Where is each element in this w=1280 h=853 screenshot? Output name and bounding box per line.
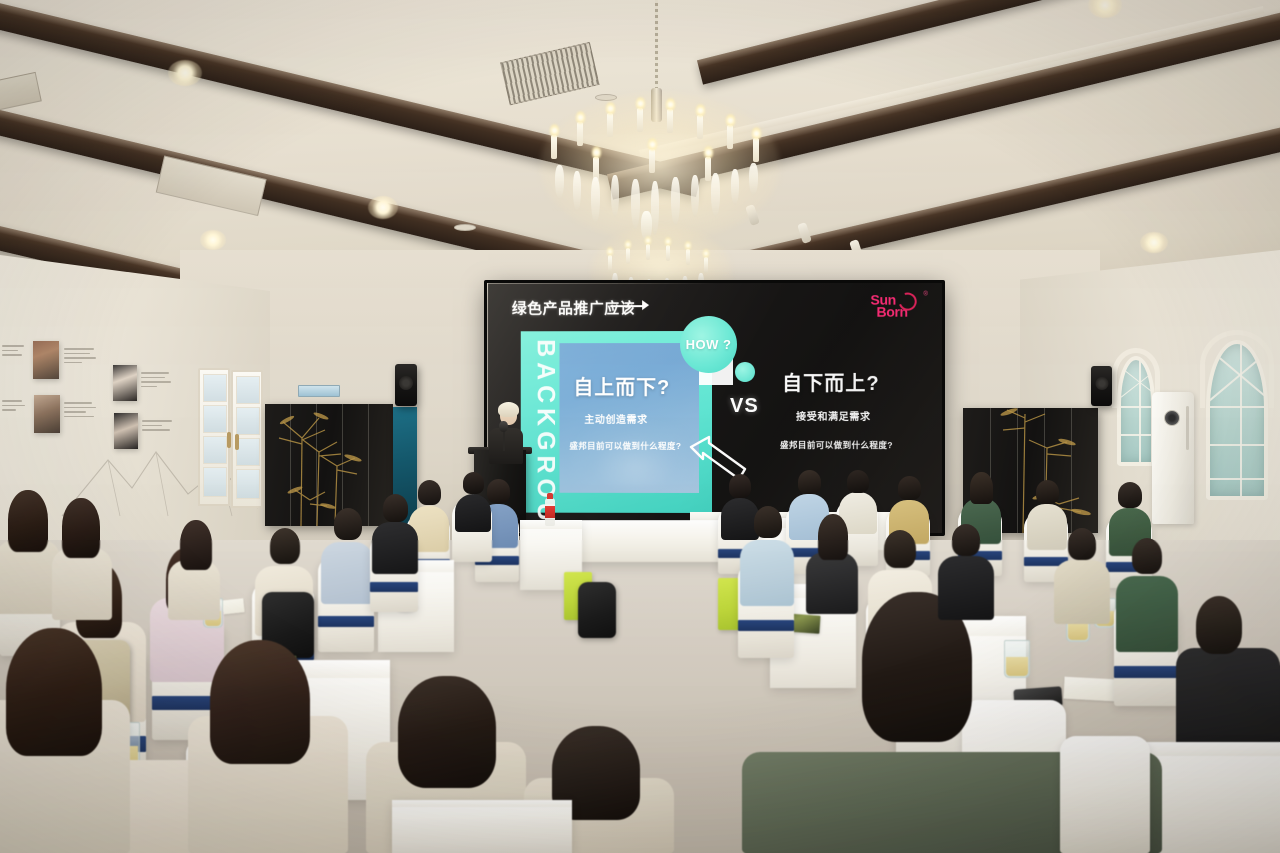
slide-left-subheading: 主动创造需求 xyxy=(584,411,647,426)
slide-title-rule xyxy=(610,305,644,307)
downlight xyxy=(168,60,202,86)
slide-title: 绿色产品推广应该 xyxy=(512,297,635,318)
downlight xyxy=(200,230,226,250)
slide-right-heading: 自下而上? xyxy=(782,367,880,396)
ceiling-vent xyxy=(0,72,42,114)
sunborn-logo: Sun Born ® xyxy=(870,292,928,320)
ceiling-louver-vent xyxy=(500,42,600,106)
water-bottle xyxy=(545,498,555,526)
downlight xyxy=(1140,232,1168,253)
conference-room-photo: 绿色产品推广应该 Sun Born ® BACKGROUND 自上而下? 主动创… xyxy=(0,0,1280,853)
downlight xyxy=(368,196,398,219)
slide-title-arrow-icon xyxy=(642,300,649,310)
portrait-caption xyxy=(64,402,98,420)
wall-sign xyxy=(298,385,340,397)
slide-left-question: 盛邦目前可以做到什么程度? xyxy=(569,440,681,452)
chandelier-chain xyxy=(655,0,658,95)
folding-screen-left xyxy=(265,404,393,526)
portrait-caption xyxy=(64,348,98,366)
downlight xyxy=(1088,0,1122,18)
chair xyxy=(1060,736,1150,853)
notepad xyxy=(1063,677,1116,702)
table xyxy=(392,800,572,853)
portrait-caption xyxy=(2,345,26,359)
air-conditioner xyxy=(1152,392,1194,524)
slide-left-heading: 自上而下? xyxy=(573,371,670,400)
microphone-head xyxy=(499,421,508,432)
slide-right-subheading: 接受和满足需求 xyxy=(796,408,871,423)
slide-right-question: 盛邦目前可以做到什么程度? xyxy=(780,439,893,451)
door-handle[interactable] xyxy=(227,432,231,448)
smoke-detector xyxy=(454,224,476,231)
wall-portrait xyxy=(34,395,60,433)
presenter-hair xyxy=(498,402,519,417)
logo-registered-mark: ® xyxy=(923,292,927,298)
french-door-left[interactable] xyxy=(198,368,230,506)
wall-portrait xyxy=(33,341,59,379)
arch-window-right xyxy=(1206,340,1268,500)
portrait-caption xyxy=(2,400,26,414)
drinking-glass xyxy=(1004,640,1030,678)
wall-speaker-right xyxy=(1091,366,1112,406)
wall-speaker-left xyxy=(395,364,417,406)
arch-window-left xyxy=(1117,356,1155,466)
portrait-caption xyxy=(141,372,173,390)
slide-how-badge-label: HOW ? xyxy=(686,337,732,352)
slide-how-dot xyxy=(735,362,755,382)
backpack xyxy=(578,582,616,638)
slide-versus-label: VS xyxy=(730,395,759,418)
presenter-body xyxy=(489,428,523,464)
projection-screen: 绿色产品推广应该 Sun Born ® BACKGROUND 自上而下? 主动创… xyxy=(488,282,943,533)
wall-portrait xyxy=(113,365,137,401)
slide-how-badge: HOW ? xyxy=(680,316,737,373)
chandelier-upper-tier xyxy=(545,115,773,233)
door-handle[interactable] xyxy=(235,434,239,450)
